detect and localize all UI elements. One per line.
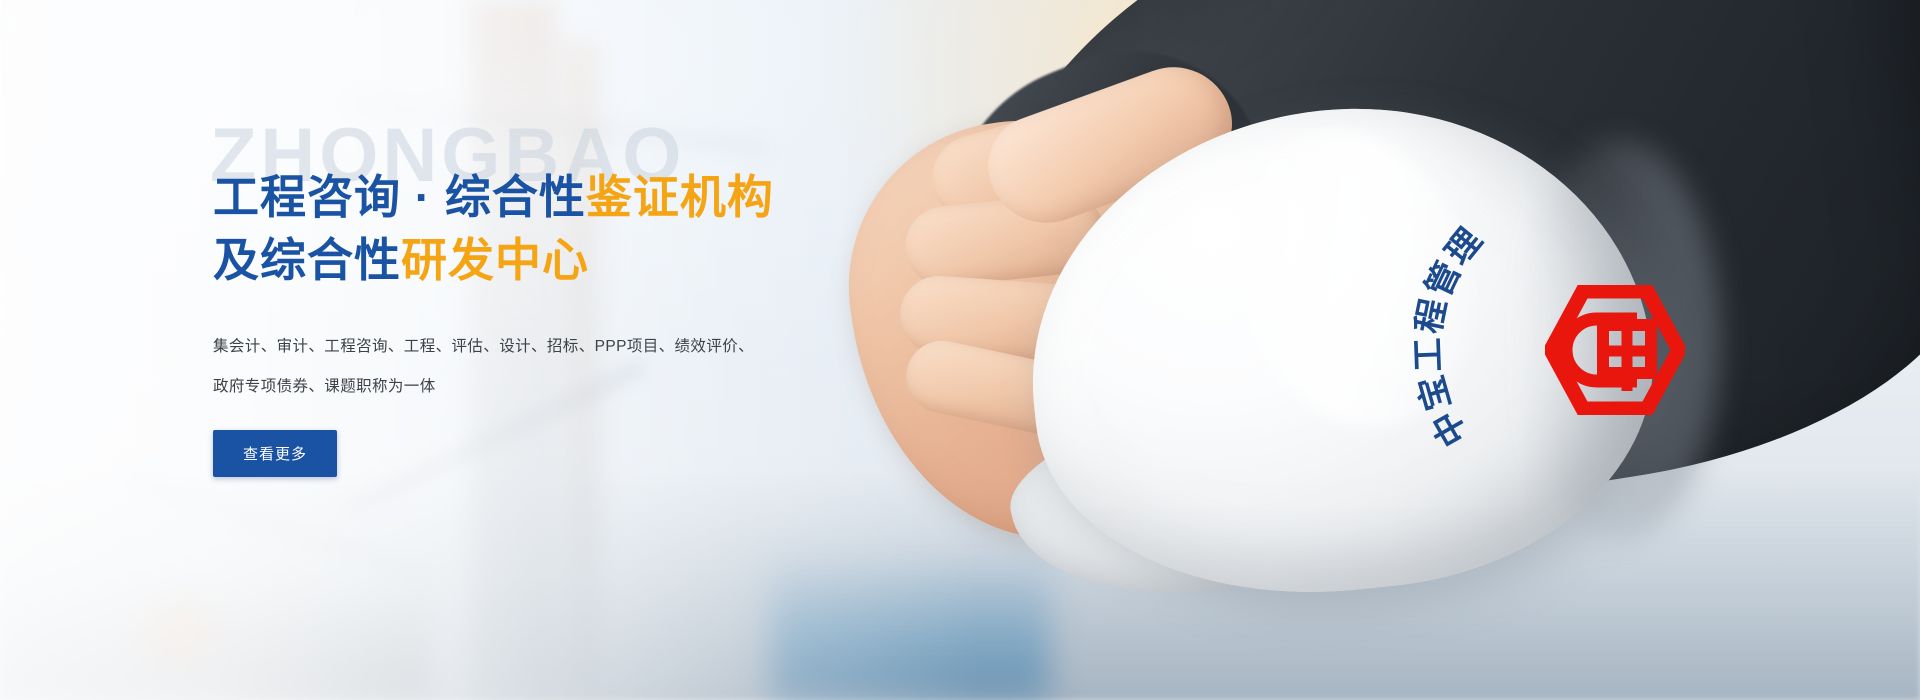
headline-line2-orange: 研发中心 [401, 234, 589, 286]
hero-copy: ZHONGBAO 工程咨询 · 综合性鉴证机构 及综合性研发中心 集会计、审计、… [213, 118, 913, 477]
headline-line2-blue: 及综合性 [213, 234, 401, 286]
hero-banner: 中宝工程管理 ZHONGBAO 工程咨询 · 综合性鉴证机构 及综合性研发中心 … [0, 0, 1920, 700]
description: 集会计、审计、工程咨询、工程、评估、设计、招标、PPP项目、绩效评价、 政府专项… [213, 327, 813, 408]
zhongbao-hexagon-emblem-icon [1545, 285, 1685, 415]
headline-line1-orange: 鉴证机构 [586, 171, 774, 223]
headline-line1-blue: 工程咨询 · 综合性 [213, 171, 586, 223]
headline-line-2: 及综合性研发中心 [213, 229, 913, 292]
headline: 工程咨询 · 综合性鉴证机构 及综合性研发中心 [213, 166, 913, 293]
description-line-1: 集会计、审计、工程咨询、工程、评估、设计、招标、PPP项目、绩效评价、 [213, 327, 813, 367]
view-more-button[interactable]: 查看更多 [213, 430, 337, 477]
description-line-2: 政府专项债券、课题职称为一体 [213, 367, 813, 407]
helmet-branding: 中宝工程管理 [1470, 180, 1770, 480]
headline-line-1: 工程咨询 · 综合性鉴证机构 [213, 166, 913, 229]
